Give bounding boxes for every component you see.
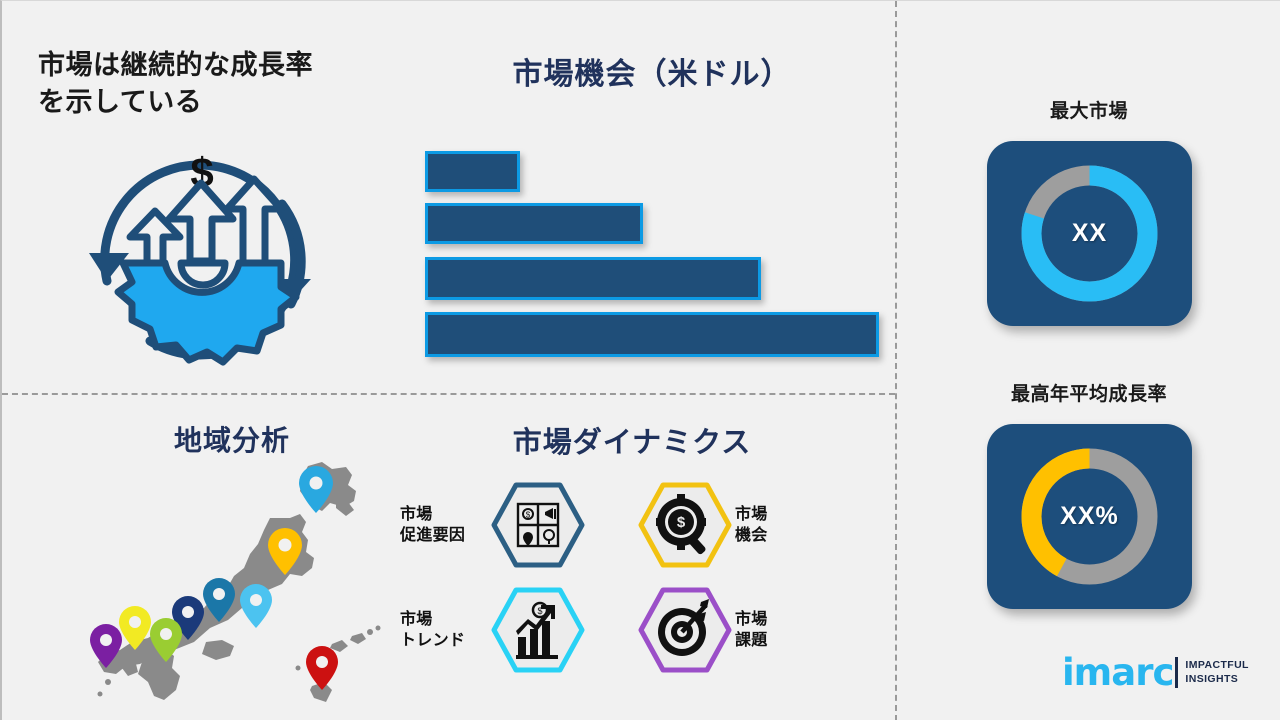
japan-map [64,456,404,711]
bar-4 [425,312,879,357]
highest-cagr-title: 最高年平均成長率 [949,379,1229,406]
opportunity-heading: 市場機会（米ドル） [422,49,882,93]
pin-hokkaido [299,466,333,513]
puzzle-pieces-icon: $ [488,480,588,570]
dynamics-label-trends: 市場 トレンド [400,609,488,651]
highest-cagr-card: XX% [987,424,1192,609]
largest-market-value: XX [987,141,1192,326]
infographic-slide: 市場は継続的な成長率 を示している $ [0,0,1280,720]
market-dynamics-grid: 市場 促進要因 $ [400,471,850,691]
bar-3 [425,257,761,300]
dynamics-item-challenges[interactable]: 市場 課題 [635,584,850,676]
target-dart-icon [635,585,735,675]
imarc-logo: imarc IMPACTFUL INSIGHTS [1062,656,1249,689]
largest-market-title: 最大市場 [949,96,1229,123]
pin-okinawa [306,646,338,690]
bar-2 [425,203,643,244]
svg-text:$: $ [526,511,531,520]
dynamics-label-opportunities: 市場 機会 [735,504,768,546]
market-dynamics-heading: 市場ダイナミクス [402,419,862,461]
bar-1 [425,151,520,192]
market-opportunity-bar-chart [422,146,882,361]
dynamics-item-trends[interactable]: 市場 トレンド $ [400,584,615,676]
highest-cagr-value: XX% [987,424,1192,609]
regional-analysis-heading: 地域分析 [82,419,382,459]
horizontal-divider [2,393,895,395]
dynamics-item-drivers[interactable]: 市場 促進要因 $ [400,479,615,571]
growth-cycle-gear-icon: $ [77,129,327,369]
pin-kanto [240,584,272,628]
svg-text:$: $ [677,514,686,531]
vertical-divider [895,1,897,720]
logo-divider [1175,657,1178,688]
growth-bar-chart-icon: $ [488,585,588,675]
growth-heading: 市場は継続的な成長率 を示している [38,47,398,122]
dynamics-label-challenges: 市場 課題 [735,609,768,651]
imarc-wordmark: imarc [1062,656,1173,689]
magnifier-dollar-icon: $ [635,480,735,570]
dynamics-item-opportunities[interactable]: $ 市場 機会 [635,479,850,571]
svg-text:$: $ [537,606,542,616]
dynamics-label-drivers: 市場 促進要因 [400,504,488,546]
imarc-tagline: IMPACTFUL INSIGHTS [1185,659,1248,686]
largest-market-card: XX [987,141,1192,326]
